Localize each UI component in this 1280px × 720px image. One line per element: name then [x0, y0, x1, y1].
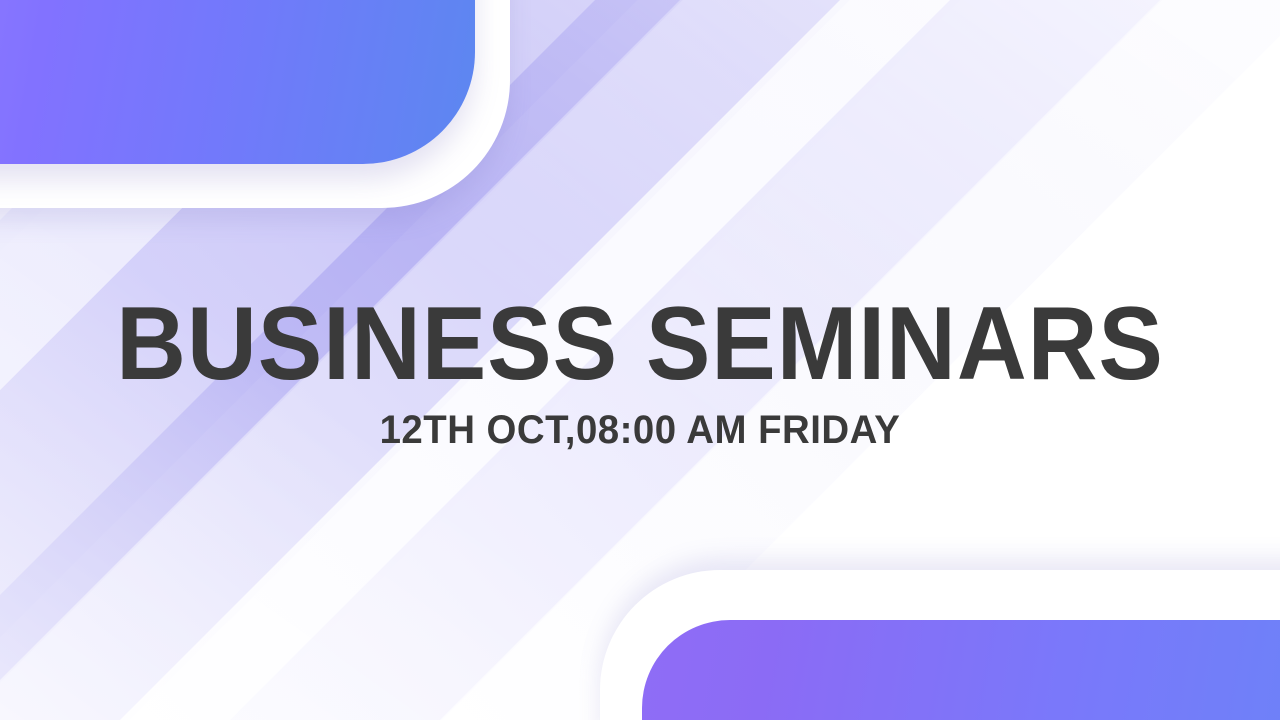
banner-subtitle: 12TH OCT,08:00 AM FRIDAY — [26, 410, 1255, 450]
banner-title: BUSINESS SEMINARS — [45, 292, 1235, 396]
headline-block: BUSINESS SEMINARS 12TH OCT,08:00 AM FRID… — [0, 292, 1280, 450]
top-left-gradient-bar — [0, 0, 475, 164]
top-left-bar-fill — [0, 0, 475, 164]
event-banner: BUSINESS SEMINARS 12TH OCT,08:00 AM FRID… — [0, 0, 1280, 720]
bottom-right-gradient-bar — [642, 620, 1280, 720]
